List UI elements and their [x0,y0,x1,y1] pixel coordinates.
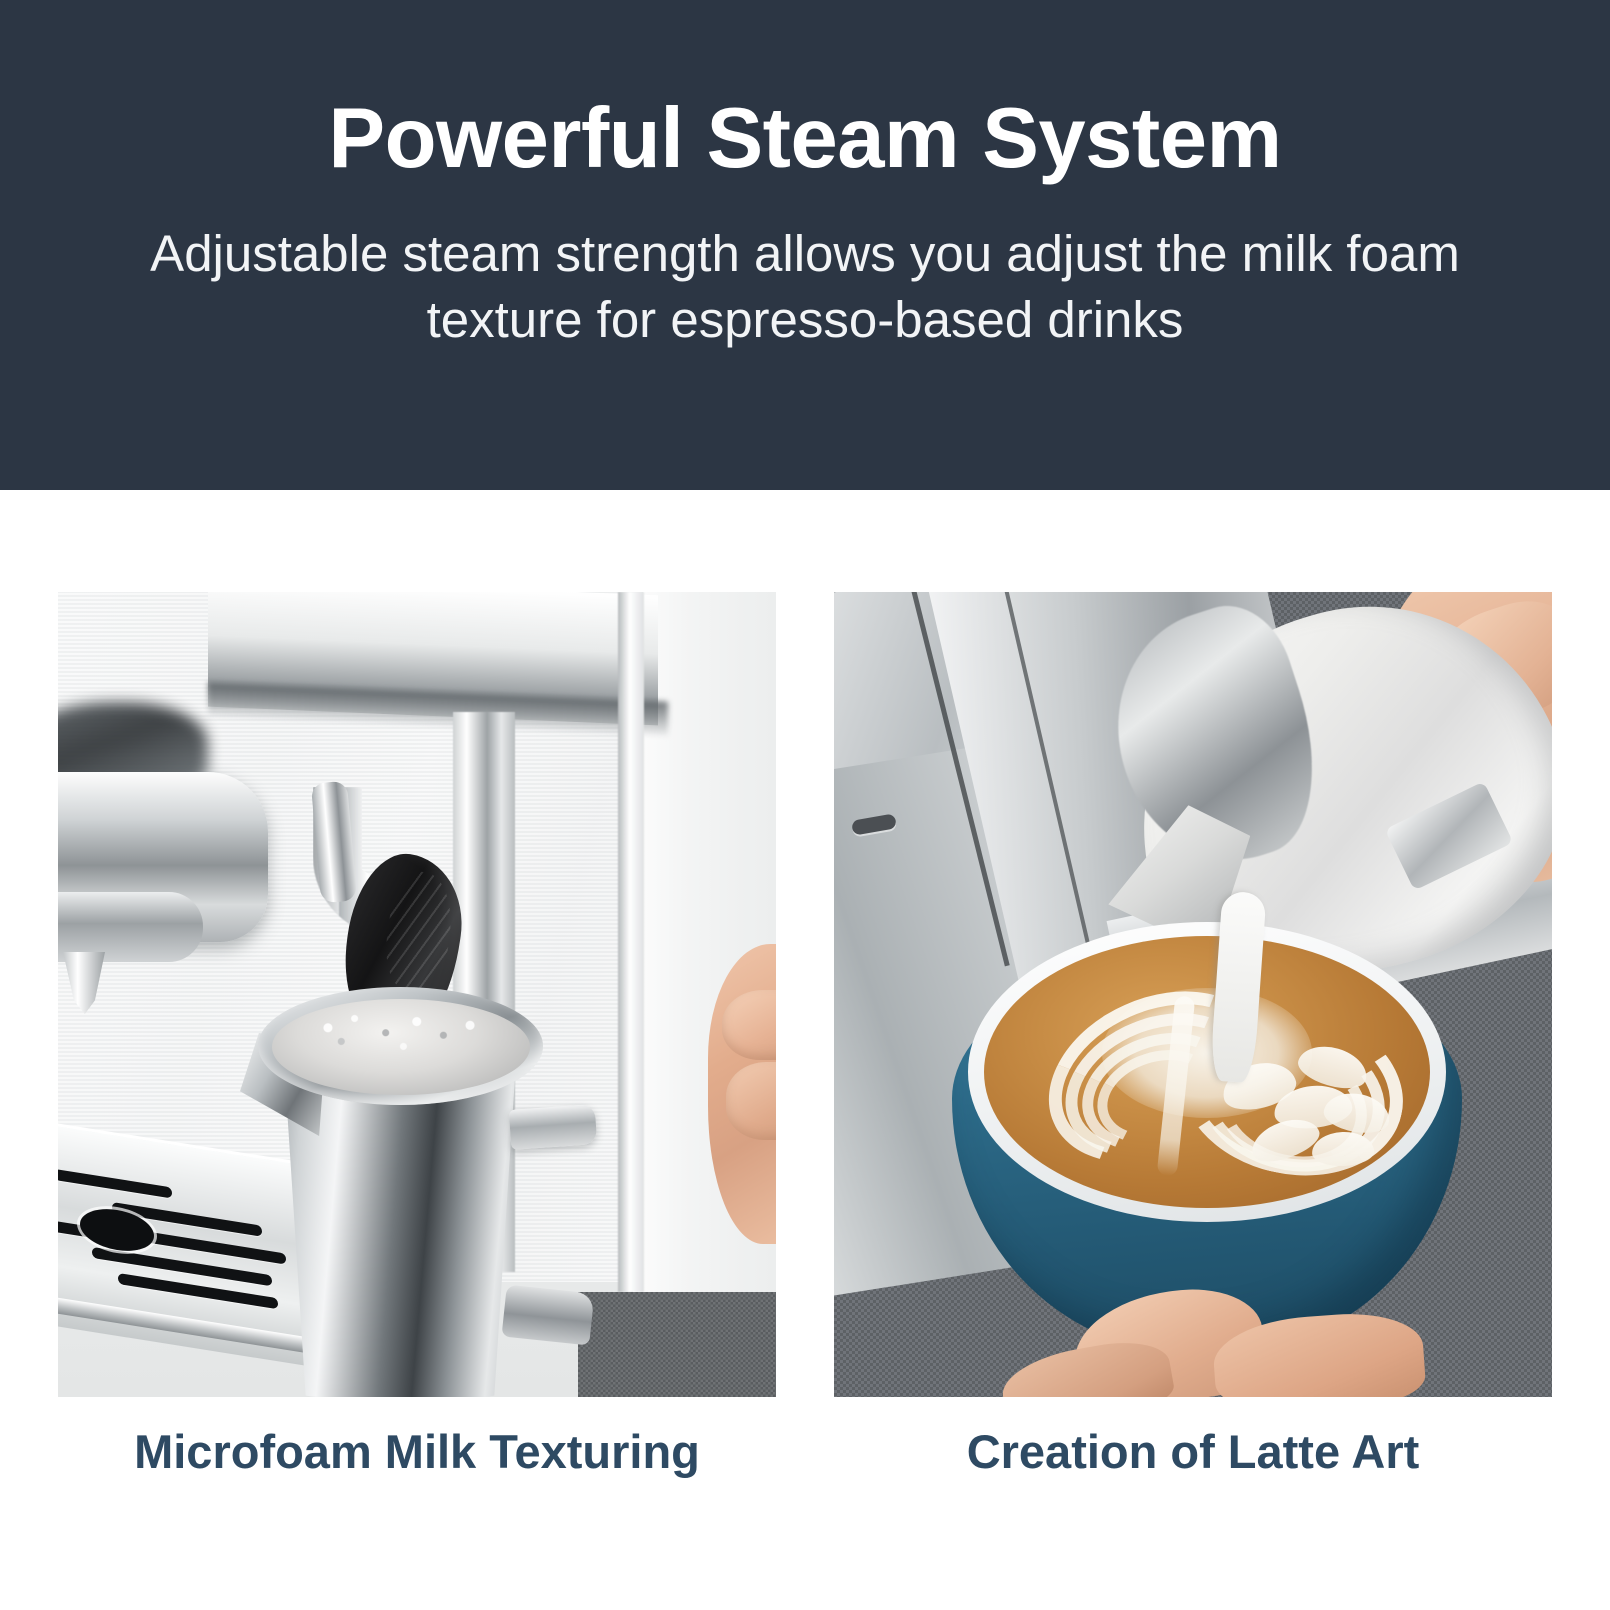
photo-panel-latte-art [834,592,1552,1397]
milk-pitcher [248,937,548,1397]
pitcher-handle-lower [502,1285,595,1346]
microfoam-bubbles [288,1003,510,1065]
page-title: Powerful Steam System [328,96,1281,181]
product-feature-page: Powerful Steam System Adjustable steam s… [0,0,1610,1610]
caption-microfoam-milk-texturing: Microfoam Milk Texturing [58,1422,776,1481]
latte-cup [952,922,1462,1352]
countertop [578,1292,776,1397]
caption-row: Microfoam Milk Texturing Creation of Lat… [58,1422,1552,1481]
header-band: Powerful Steam System Adjustable steam s… [0,0,1610,490]
photo-panel-microfoam [58,592,776,1397]
machine-right-edge [618,592,644,1292]
page-subtitle: Adjustable steam strength allows you adj… [105,221,1505,354]
caption-creation-of-latte-art: Creation of Latte Art [834,1422,1552,1481]
espresso-crema-surface [984,936,1430,1208]
pitcher-handle-upper [509,1104,598,1150]
photo-panel-row [58,592,1552,1397]
espresso-machine-photo [58,592,776,1397]
latte-art-photo [834,592,1552,1397]
group-head-collar [58,892,203,962]
